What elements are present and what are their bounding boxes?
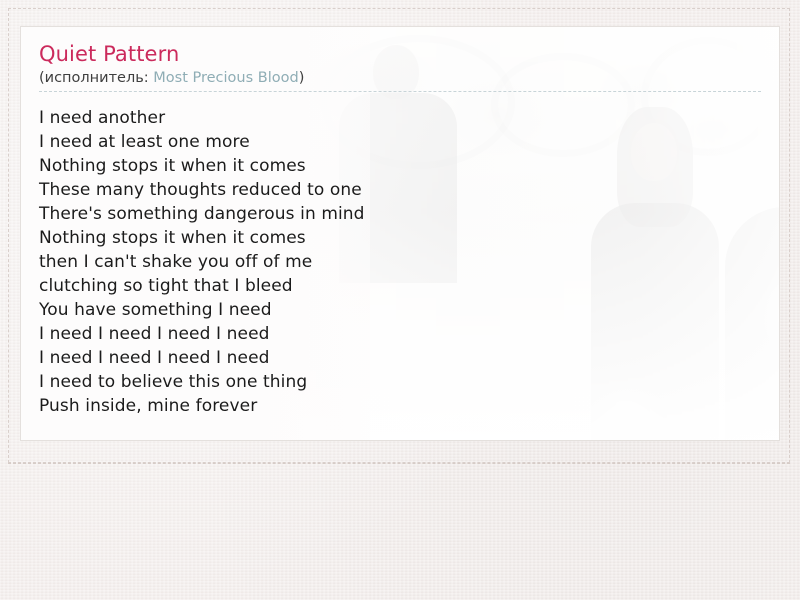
page-title: Quiet Pattern [39,41,761,67]
lyric-line: These many thoughts reduced to one [39,178,761,202]
lyric-line: then I can't shake you off of me [39,250,761,274]
artist-link[interactable]: Most Precious Blood [153,70,298,86]
artist-prefix-label: (исполнитель: [39,70,153,86]
lyric-line: Nothing stops it when it comes [39,154,761,178]
lyrics-content: Quiet Pattern (исполнитель: Most Preciou… [21,27,779,440]
lyric-line: There's something dangerous in mind [39,202,761,226]
lyrics-text: I need anotherI need at least one moreNo… [39,106,761,418]
lyric-line: I need another [39,106,761,130]
lyric-line: I need I need I need I need [39,346,761,370]
lyric-line: You have something I need [39,298,761,322]
lyrics-card: Quiet Pattern (исполнитель: Most Preciou… [20,26,780,441]
lyric-line: I need at least one more [39,130,761,154]
artist-line: (исполнитель: Most Precious Blood) [39,68,761,92]
artist-suffix-label: ) [299,70,305,86]
bottom-dashed-rule [8,463,790,464]
lyric-line: I need I need I need I need [39,322,761,346]
lyric-line: Nothing stops it when it comes [39,226,761,250]
lyric-line: clutching so tight that I bleed [39,274,761,298]
lyric-line: I need to believe this one thing [39,370,761,394]
lyric-line: Push inside, mine forever [39,394,761,418]
